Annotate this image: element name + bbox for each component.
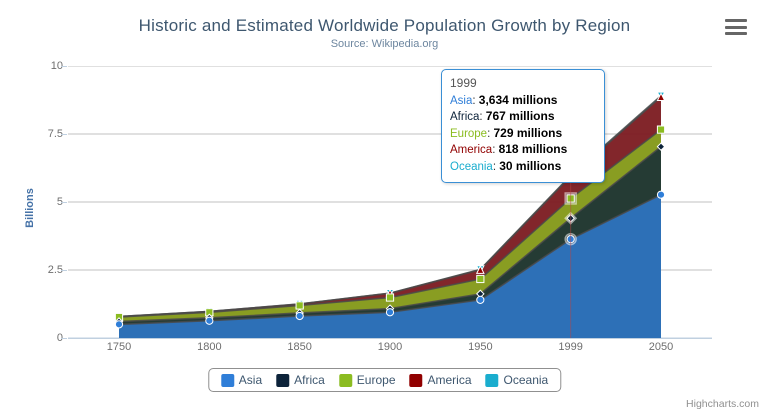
highcharts-credits[interactable]: Highcharts.com <box>686 398 759 410</box>
tooltip-series-value: 767 millions <box>486 109 555 123</box>
tooltip-series-name: Asia <box>450 95 472 107</box>
tooltip-rows: Asia: 3,634 millionsAfrica: 767 millions… <box>450 93 596 176</box>
y-axis-tick-label: 0 <box>3 332 63 344</box>
legend-item-africa[interactable]: Africa <box>276 373 325 387</box>
legend-item-oceania[interactable]: Oceania <box>486 373 549 387</box>
x-axis-tick-label: 1900 <box>378 341 402 353</box>
series-point[interactable] <box>296 312 303 319</box>
tooltip-series-name: America <box>450 144 492 156</box>
series-point[interactable] <box>477 296 484 303</box>
y-axis-tick-label: 5 <box>3 196 63 208</box>
tooltip-row: Europe: 729 millions <box>450 126 596 143</box>
x-axis-tick-label: 1750 <box>107 341 131 353</box>
y-axis-tick-mark <box>61 202 67 203</box>
y-axis-tick-label: 2.5 <box>3 264 63 276</box>
legend-swatch-icon <box>339 374 352 387</box>
legend-item-label: Oceania <box>504 373 549 387</box>
series-point[interactable] <box>115 321 122 328</box>
x-axis-tick-label: 1850 <box>287 341 311 353</box>
tooltip-series-name: Africa <box>450 111 479 123</box>
legend-items: AsiaAfricaEuropeAmericaOceania <box>221 373 548 387</box>
series-point[interactable] <box>477 275 484 282</box>
legend-swatch-icon <box>221 374 234 387</box>
highcharts-container: Historic and Estimated Worldwide Populat… <box>0 0 769 416</box>
hamburger-bar-1 <box>725 19 747 22</box>
hamburger-menu-icon[interactable] <box>725 19 747 35</box>
legend-item-label: Africa <box>294 373 325 387</box>
x-axis-tick-label: 2050 <box>649 341 673 353</box>
tooltip-series-name: Europe <box>450 128 487 140</box>
tooltip-row: Oceania: 30 millions <box>450 159 596 176</box>
tooltip-row: America: 818 millions <box>450 142 596 159</box>
series-point[interactable] <box>657 126 664 133</box>
series-point[interactable] <box>206 317 213 324</box>
legend-item-asia[interactable]: Asia <box>221 373 262 387</box>
legend-swatch-icon <box>410 374 423 387</box>
legend-item-europe[interactable]: Europe <box>339 373 396 387</box>
x-axis-tick-label: 1950 <box>468 341 492 353</box>
tooltip-row: Africa: 767 millions <box>450 109 596 126</box>
tooltip-series-value: 729 millions <box>493 126 562 140</box>
legend-swatch-icon <box>486 374 499 387</box>
series-point[interactable] <box>296 302 303 309</box>
series-point[interactable] <box>386 294 393 301</box>
y-axis-title: Billions <box>24 188 36 228</box>
legend-item-label: Asia <box>239 373 262 387</box>
y-axis-tick-mark <box>61 66 67 67</box>
chart-series-svg <box>68 66 712 338</box>
chart-legend[interactable]: AsiaAfricaEuropeAmericaOceania <box>208 368 561 392</box>
x-axis-line <box>68 338 712 339</box>
chart-subtitle: Source: Wikipedia.org <box>0 38 769 50</box>
series-point[interactable] <box>386 309 393 316</box>
hamburger-bar-3 <box>725 32 747 35</box>
tooltip-header: 1999 <box>450 76 596 93</box>
x-axis-tick-label: 1800 <box>197 341 221 353</box>
tooltip-row: Asia: 3,634 millions <box>450 93 596 110</box>
legend-item-america[interactable]: America <box>410 373 472 387</box>
hamburger-bar-2 <box>725 26 747 29</box>
series-point[interactable] <box>657 191 664 198</box>
chart-title: Historic and Estimated Worldwide Populat… <box>0 16 769 36</box>
tooltip-series-value: 3,634 millions <box>479 93 558 107</box>
y-axis-tick-label: 7.5 <box>3 128 63 140</box>
x-axis-tick-label: 1999 <box>558 341 582 353</box>
legend-item-label: America <box>428 373 472 387</box>
y-axis-tick-label: 10 <box>3 60 63 72</box>
legend-swatch-icon <box>276 374 289 387</box>
tooltip-series-value: 30 millions <box>499 159 561 173</box>
legend-item-label: Europe <box>357 373 396 387</box>
plot-area <box>68 66 712 338</box>
tooltip-series-value: 818 millions <box>499 142 568 156</box>
chart-tooltip: 1999 Asia: 3,634 millionsAfrica: 767 mil… <box>441 69 605 183</box>
tooltip-series-name: Oceania <box>450 161 493 173</box>
y-axis-tick-mark <box>61 338 67 339</box>
y-axis-tick-mark <box>61 134 67 135</box>
y-axis-tick-mark <box>61 270 67 271</box>
